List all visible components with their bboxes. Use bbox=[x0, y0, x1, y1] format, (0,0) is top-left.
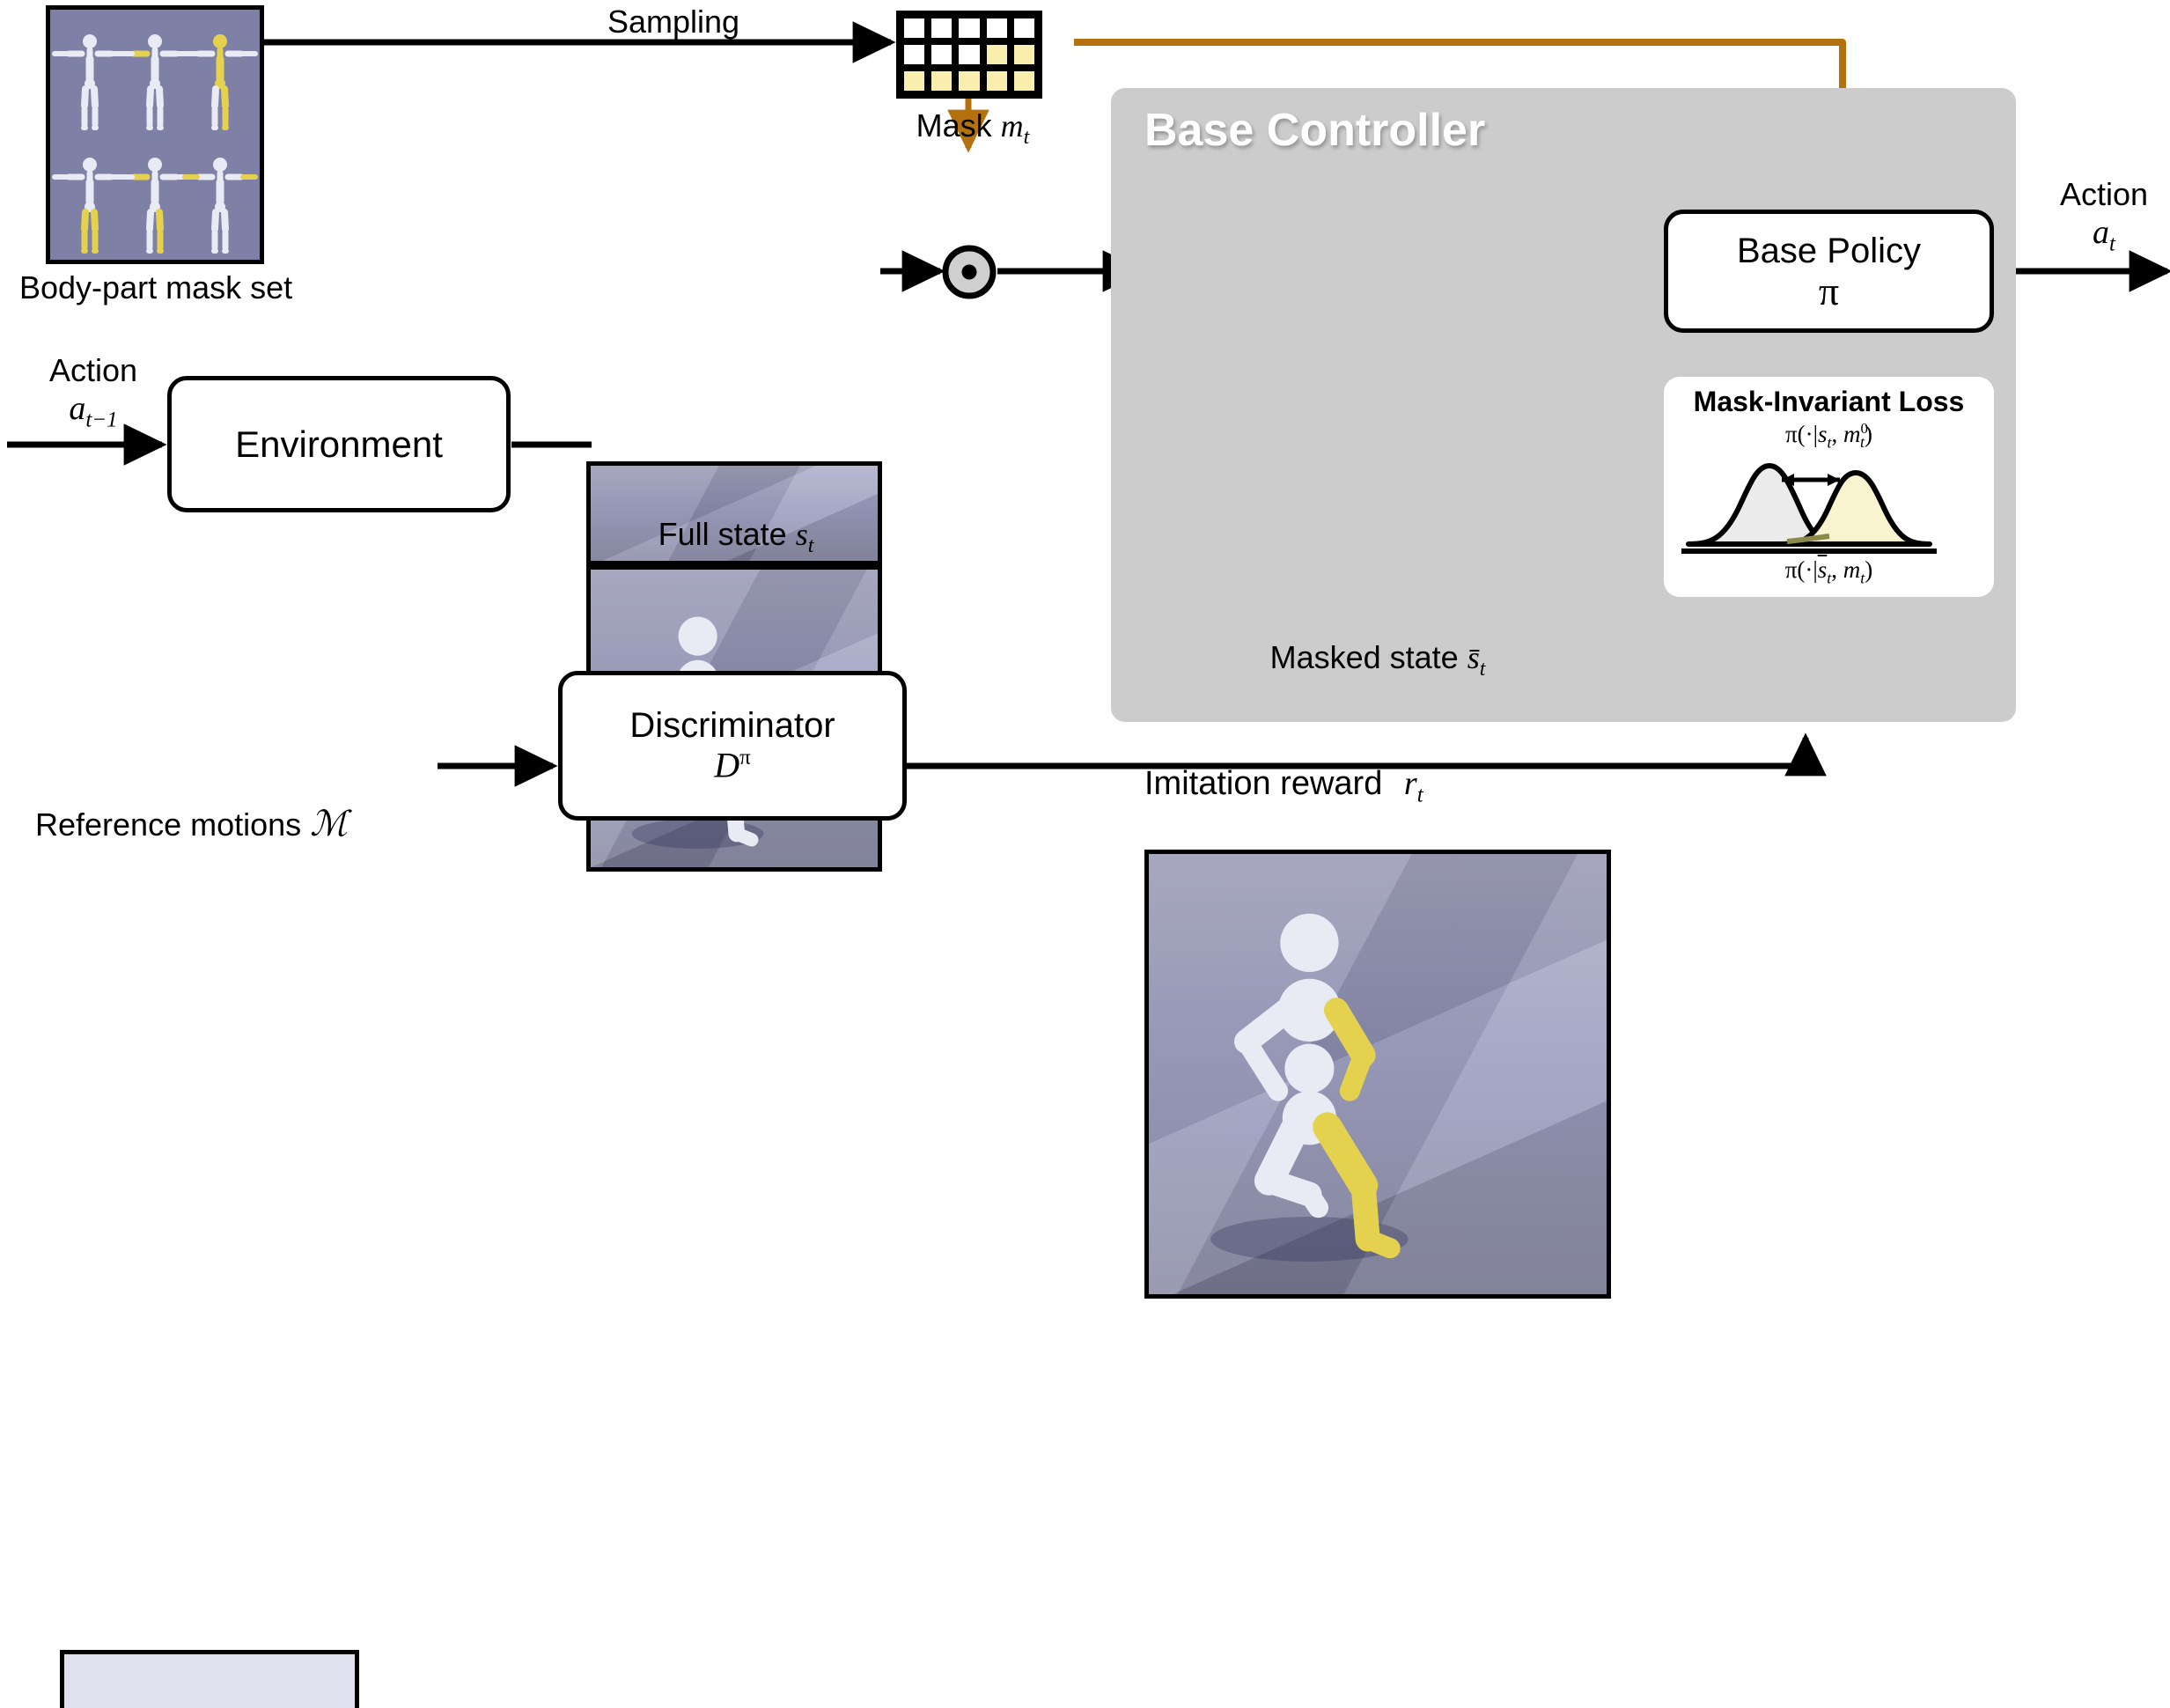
action-prev-subscript: t−1 bbox=[85, 409, 117, 432]
reference-motions-symbol: ℳ bbox=[310, 804, 348, 843]
body-part-mask-set-image bbox=[46, 5, 264, 264]
mask-figure-m3 bbox=[185, 34, 255, 128]
action-prev-symbol: a bbox=[69, 390, 85, 427]
base-policy-box[interactable]: Base Policy π bbox=[1664, 210, 1994, 333]
full-state-caption: Full state st bbox=[560, 516, 912, 558]
head bbox=[83, 158, 97, 172]
mask-grid[interactable] bbox=[896, 11, 1042, 99]
left-foot bbox=[1309, 1195, 1318, 1208]
masked-state-image bbox=[1144, 850, 1611, 1299]
mask-figure-m4 bbox=[55, 158, 125, 251]
action-prev-word: Action bbox=[14, 352, 173, 389]
mask-cell-r1-c4[interactable] bbox=[1011, 41, 1038, 68]
left-thigh bbox=[85, 89, 85, 106]
mask-figure-m6 bbox=[185, 158, 255, 251]
mask-cell-r2-c3[interactable] bbox=[983, 68, 1011, 94]
head bbox=[83, 34, 97, 48]
sampling-label: Sampling bbox=[572, 4, 775, 40]
head bbox=[148, 34, 162, 48]
mask-cell-r0-c1[interactable] bbox=[928, 15, 955, 41]
loss-distribution-plot bbox=[1673, 452, 1985, 562]
environment-label: Environment bbox=[235, 423, 443, 466]
left-forearm bbox=[1247, 1042, 1278, 1091]
discriminator-symbol: Dπ bbox=[714, 746, 751, 784]
action-out-word: Action bbox=[2025, 176, 2170, 213]
action-out-label: Action at bbox=[2025, 176, 2170, 257]
action-out-symbol: a bbox=[2093, 214, 2109, 251]
mask-cell-r2-c1[interactable] bbox=[928, 68, 955, 94]
right-forearm bbox=[1350, 1055, 1363, 1091]
mask-cell-r2-c0[interactable] bbox=[901, 68, 928, 94]
mask-caption-symbol: m bbox=[1001, 108, 1024, 144]
right-thigh bbox=[159, 89, 160, 106]
reference-motions-card-back bbox=[60, 1650, 359, 1708]
imitation-reward-symbol: r bbox=[1404, 765, 1417, 802]
abdomen bbox=[1284, 1044, 1334, 1093]
mask-caption-subscript: t bbox=[1024, 126, 1030, 149]
reference-motions-caption: Reference motions ℳ bbox=[35, 803, 458, 844]
mask-invariant-loss-card: Mask-Invariant Loss π(·|st, m0t) π(·|st,… bbox=[1664, 377, 1994, 597]
left-thigh bbox=[215, 89, 216, 106]
loss-top-formula: π(·|st, m0t) bbox=[1664, 420, 1994, 452]
imitation-reward-subscript: t bbox=[1417, 784, 1423, 807]
element-wise-product-node bbox=[940, 243, 998, 301]
action-prev-label: Action at−1 bbox=[14, 352, 173, 433]
mask-cell-r1-c0[interactable] bbox=[901, 41, 928, 68]
left-thigh bbox=[215, 212, 216, 229]
masked-state-caption-symbol: s̄ bbox=[1468, 640, 1480, 675]
mask-cell-r0-c2[interactable] bbox=[955, 15, 982, 41]
mask-caption-text: Mask bbox=[916, 107, 992, 144]
discriminator-box[interactable]: Discriminator Dπ bbox=[558, 671, 907, 821]
base-policy-symbol: π bbox=[1819, 271, 1839, 312]
head bbox=[148, 158, 162, 172]
imitation-reward-text: Imitation reward bbox=[1144, 765, 1382, 802]
mask-figure-m1 bbox=[55, 34, 125, 128]
right-thigh bbox=[224, 89, 225, 106]
mask-figure-m2 bbox=[120, 34, 190, 128]
arrow-imitation-reward bbox=[907, 738, 1806, 766]
environment-box[interactable]: Environment bbox=[167, 376, 511, 512]
left-thigh bbox=[85, 212, 85, 229]
reference-motions-caption-text: Reference motions bbox=[35, 806, 301, 843]
mask-caption: Mask mt bbox=[880, 107, 1065, 150]
full-state-caption-text: Full state bbox=[658, 516, 787, 552]
imitation-reward-label: Imitation reward rt bbox=[1144, 764, 1549, 808]
mask-cell-r1-c2[interactable] bbox=[955, 41, 982, 68]
mask-cell-r1-c3[interactable] bbox=[983, 41, 1011, 68]
right-thigh bbox=[224, 212, 225, 229]
masked-state-caption-subscript: t bbox=[1480, 658, 1486, 681]
loss-bottom-formula: π(·|st, mt) bbox=[1664, 556, 1994, 587]
right-foot bbox=[1368, 1240, 1391, 1248]
mask-cell-r0-c3[interactable] bbox=[983, 15, 1011, 41]
distance-double-arrow bbox=[1782, 474, 1840, 486]
mask-cell-r1-c1[interactable] bbox=[928, 41, 955, 68]
body-part-mask-set-caption: Body-part mask set bbox=[19, 269, 292, 306]
base-controller-title: Base Controller bbox=[1144, 104, 1485, 157]
masked-state-caption: Masked state s̄t bbox=[1144, 639, 1611, 681]
right-foot bbox=[737, 834, 752, 840]
mask-cell-r0-c4[interactable] bbox=[1011, 15, 1038, 41]
right-thigh bbox=[94, 212, 95, 229]
right-thigh bbox=[94, 89, 95, 106]
mask-cell-r2-c4[interactable] bbox=[1011, 68, 1038, 94]
base-policy-label: Base Policy bbox=[1737, 232, 1921, 271]
mask-cell-r2-c2[interactable] bbox=[955, 68, 982, 94]
full-state-caption-subscript: t bbox=[808, 534, 814, 557]
masked-state-caption-text: Masked state bbox=[1270, 639, 1459, 675]
mask-cell-r0-c0[interactable] bbox=[901, 15, 928, 41]
head bbox=[1280, 914, 1338, 972]
right-thigh bbox=[159, 212, 160, 229]
mask-figure-m5 bbox=[120, 158, 190, 251]
full-state-caption-symbol: s bbox=[796, 517, 808, 552]
discriminator-label: Discriminator bbox=[629, 706, 835, 746]
mask-invariant-loss-title: Mask-Invariant Loss bbox=[1664, 386, 1994, 418]
head bbox=[679, 617, 717, 656]
action-out-subscript: t bbox=[2109, 232, 2115, 256]
head bbox=[213, 158, 227, 172]
left-thigh bbox=[150, 212, 151, 229]
head bbox=[213, 34, 227, 48]
left-thigh bbox=[150, 89, 151, 106]
